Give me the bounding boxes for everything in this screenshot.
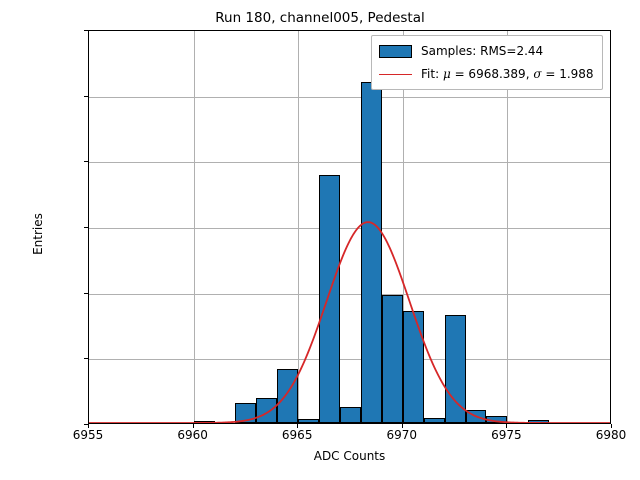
legend: Samples: RMS=2.44 Fit: μ = 6968.389, σ =… bbox=[371, 35, 603, 90]
x-tick-mark bbox=[506, 424, 507, 428]
x-tick-label: 6960 bbox=[177, 428, 208, 442]
x-tick-mark bbox=[402, 424, 403, 428]
x-tick-label: 6980 bbox=[596, 428, 627, 442]
legend-bar-swatch-icon bbox=[379, 45, 412, 58]
legend-label-fit: Fit: μ = 6968.389, σ = 1.988 bbox=[421, 67, 594, 81]
legend-item-samples: Samples: RMS=2.44 bbox=[379, 41, 594, 61]
y-axis-label: Entries bbox=[31, 174, 45, 294]
y-tick-mark bbox=[84, 358, 88, 359]
y-tick-mark bbox=[84, 293, 88, 294]
x-tick-mark bbox=[297, 424, 298, 428]
x-tick-label: 6975 bbox=[491, 428, 522, 442]
figure-canvas: Run 180, channel005, Pedestal 0200040006… bbox=[0, 0, 640, 480]
y-tick-mark bbox=[84, 227, 88, 228]
y-tick-mark bbox=[84, 30, 88, 31]
x-tick-label: 6965 bbox=[282, 428, 313, 442]
legend-line-swatch-icon bbox=[379, 74, 412, 75]
legend-item-fit: Fit: μ = 6968.389, σ = 1.988 bbox=[379, 64, 594, 84]
x-tick-label: 6955 bbox=[73, 428, 104, 442]
x-tick-mark bbox=[193, 424, 194, 428]
x-tick-label: 6970 bbox=[387, 428, 418, 442]
x-tick-mark bbox=[88, 424, 89, 428]
y-tick-mark bbox=[84, 161, 88, 162]
legend-label-samples: Samples: RMS=2.44 bbox=[421, 44, 543, 58]
chart-title: Run 180, channel005, Pedestal bbox=[0, 10, 640, 26]
x-axis-label: ADC Counts bbox=[88, 449, 611, 463]
y-tick-mark bbox=[84, 96, 88, 97]
x-tick-mark bbox=[611, 424, 612, 428]
